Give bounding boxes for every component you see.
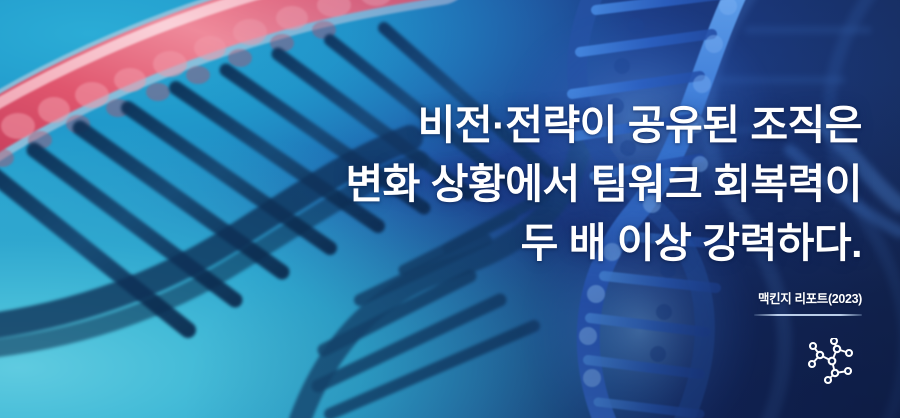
- attribution-block: 맥킨지 리포트(2023): [222, 292, 862, 316]
- headline-line-3: 두 배 이상 강력하다.: [222, 214, 862, 273]
- quote-block: 비전·전략이 공유된 조직은 변화 상황에서 팀워크 회복력이 두 배 이상 강…: [222, 96, 862, 316]
- molecule-icon: [804, 338, 860, 386]
- headline-line-1: 비전·전략이 공유된 조직은: [222, 96, 862, 155]
- headline-line-2: 변화 상황에서 팀워크 회복력이: [222, 155, 862, 214]
- attribution-divider: [754, 314, 862, 316]
- attribution-source: 맥킨지 리포트(2023): [758, 292, 862, 307]
- headline: 비전·전략이 공유된 조직은 변화 상황에서 팀워크 회복력이 두 배 이상 강…: [222, 96, 862, 273]
- dna-quote-banner: 비전·전략이 공유된 조직은 변화 상황에서 팀워크 회복력이 두 배 이상 강…: [0, 0, 900, 418]
